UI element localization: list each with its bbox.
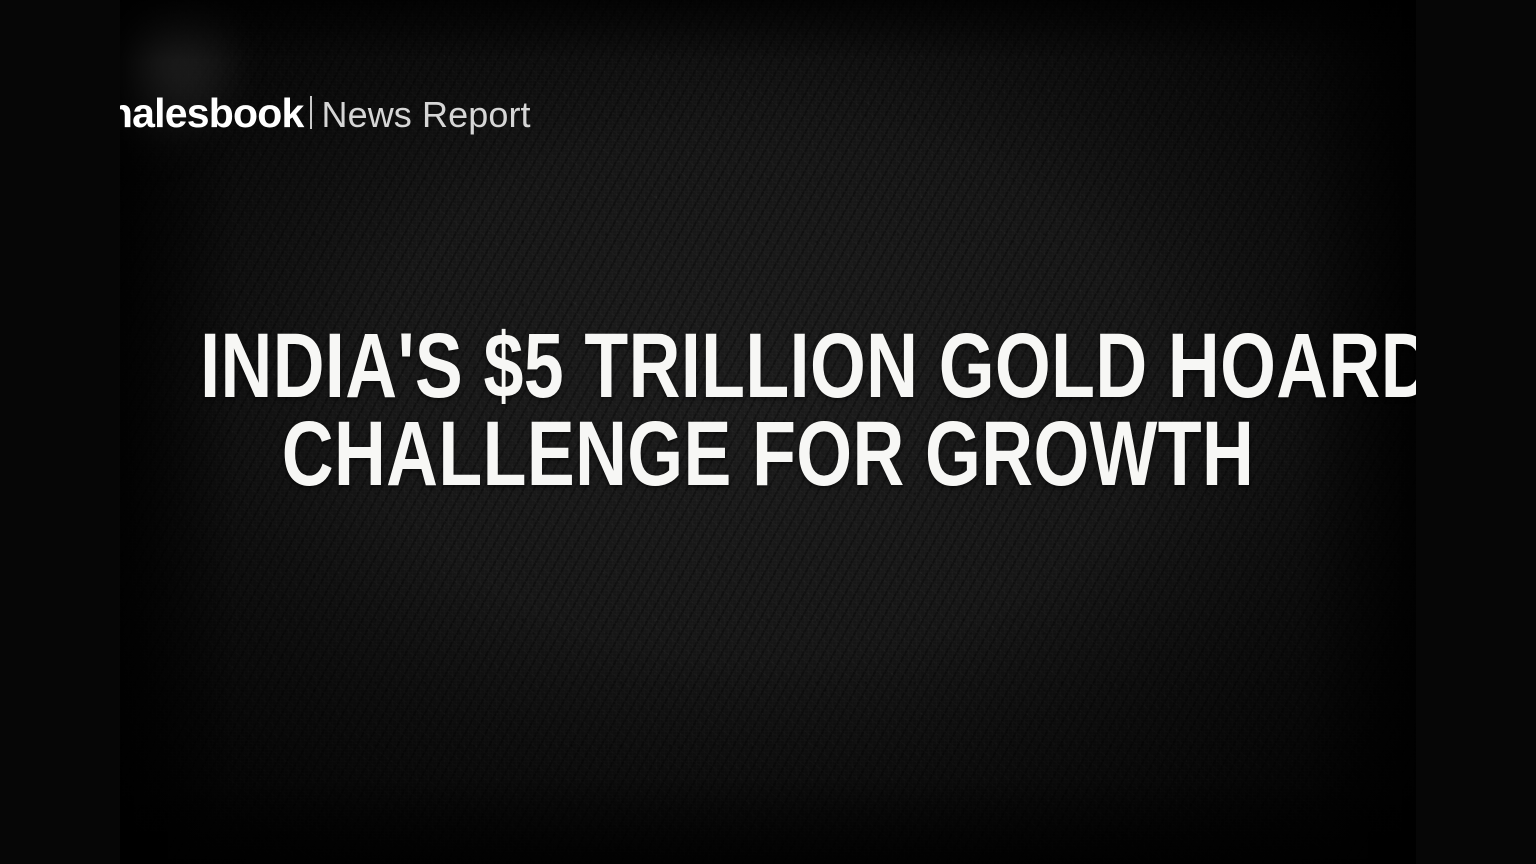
brand-logo: Whalesbook News Report xyxy=(70,93,531,134)
brand-divider xyxy=(310,96,312,129)
news-report-slide: Whalesbook News Report INDIA'S $5 TRILLI… xyxy=(0,0,1536,864)
headline-block: INDIA'S $5 TRILLION GOLD HOARD: CHALLENG… xyxy=(0,322,1536,499)
brand-subtitle: News Report xyxy=(321,97,530,133)
brand-wordmark: Whalesbook xyxy=(70,93,303,134)
headline-line-2: CHALLENGE FOR GROWTH xyxy=(200,410,1336,498)
headline-line-1: INDIA'S $5 TRILLION GOLD HOARD: xyxy=(200,322,1336,410)
